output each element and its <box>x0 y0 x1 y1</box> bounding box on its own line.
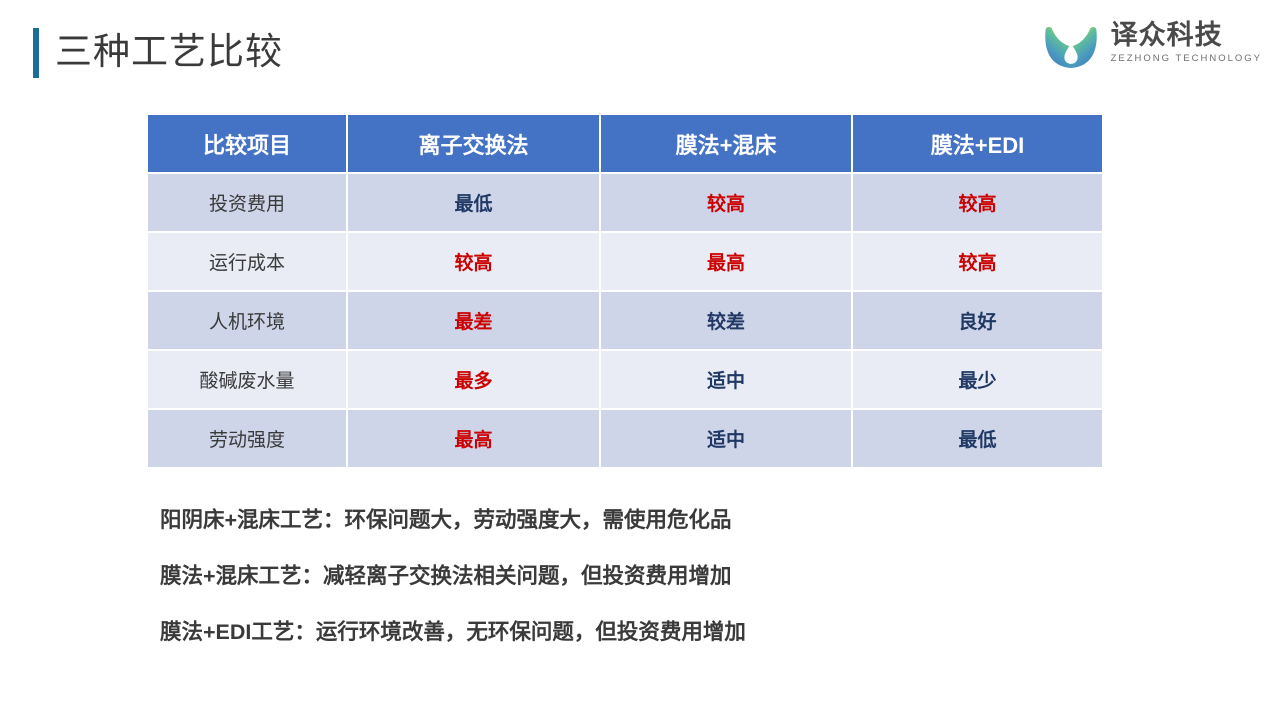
column-header-edi: 膜法+EDI <box>852 115 1102 173</box>
table-cell: 最多 <box>347 350 600 409</box>
table-cell: 最高 <box>347 409 600 467</box>
brand-logo: 译众科技 ZEZHONG TECHNOLOGY <box>1040 12 1262 74</box>
table-cell: 较高 <box>852 173 1102 232</box>
note-line: 阳阴床+混床工艺：环保问题大，劳动强度大，需使用危化品 <box>160 492 1160 548</box>
column-header-ion: 离子交换法 <box>347 115 600 173</box>
table-cell: 较高 <box>852 232 1102 291</box>
table-cell: 较高 <box>347 232 600 291</box>
table-cell: 良好 <box>852 291 1102 350</box>
page-title: 三种工艺比较 <box>55 26 283 78</box>
table-row: 人机环境 最差 较差 良好 <box>148 291 1102 350</box>
table-cell: 较高 <box>600 173 852 232</box>
row-label: 酸碱废水量 <box>148 350 347 409</box>
column-header-mixbed: 膜法+混床 <box>600 115 852 173</box>
slide-header: 三种工艺比较 译众科技 <box>0 0 1280 100</box>
table-header-row: 比较项目 离子交换法 膜法+混床 膜法+EDI <box>148 115 1102 173</box>
table-body: 投资费用 最低 较高 较高 运行成本 较高 最高 较高 人机环境 最差 较差 良… <box>148 173 1102 467</box>
logo-name-en: ZEZHONG TECHNOLOGY <box>1111 54 1262 64</box>
table-row: 投资费用 最低 较高 较高 <box>148 173 1102 232</box>
table-row: 劳动强度 最高 适中 最低 <box>148 409 1102 467</box>
table-cell: 最高 <box>600 232 852 291</box>
note-line: 膜法+EDI工艺：运行环境改善，无环保问题，但投资费用增加 <box>160 604 1160 660</box>
title-accent-bar <box>33 28 39 78</box>
table-row: 酸碱废水量 最多 适中 最少 <box>148 350 1102 409</box>
logo-name-cn: 译众科技 <box>1111 22 1262 49</box>
table-cell: 适中 <box>600 409 852 467</box>
table-header: 比较项目 离子交换法 膜法+混床 膜法+EDI <box>148 115 1102 173</box>
row-label: 投资费用 <box>148 173 347 232</box>
row-label: 劳动强度 <box>148 409 347 467</box>
table-cell: 最差 <box>347 291 600 350</box>
column-header-item: 比较项目 <box>148 115 347 173</box>
table-cell: 适中 <box>600 350 852 409</box>
notes-block: 阳阴床+混床工艺：环保问题大，劳动强度大，需使用危化品 膜法+混床工艺：减轻离子… <box>160 492 1160 660</box>
comparison-table: 比较项目 离子交换法 膜法+混床 膜法+EDI 投资费用 最低 较高 较高 运行… <box>148 115 1102 467</box>
table-cell: 最低 <box>347 173 600 232</box>
leaf-droplet-icon <box>1040 15 1102 71</box>
note-line: 膜法+混床工艺：减轻离子交换法相关问题，但投资费用增加 <box>160 548 1160 604</box>
row-label: 人机环境 <box>148 291 347 350</box>
row-label: 运行成本 <box>148 232 347 291</box>
logo-text-block: 译众科技 ZEZHONG TECHNOLOGY <box>1111 22 1262 64</box>
table-cell: 较差 <box>600 291 852 350</box>
table-row: 运行成本 较高 最高 较高 <box>148 232 1102 291</box>
table-cell: 最少 <box>852 350 1102 409</box>
table-cell: 最低 <box>852 409 1102 467</box>
